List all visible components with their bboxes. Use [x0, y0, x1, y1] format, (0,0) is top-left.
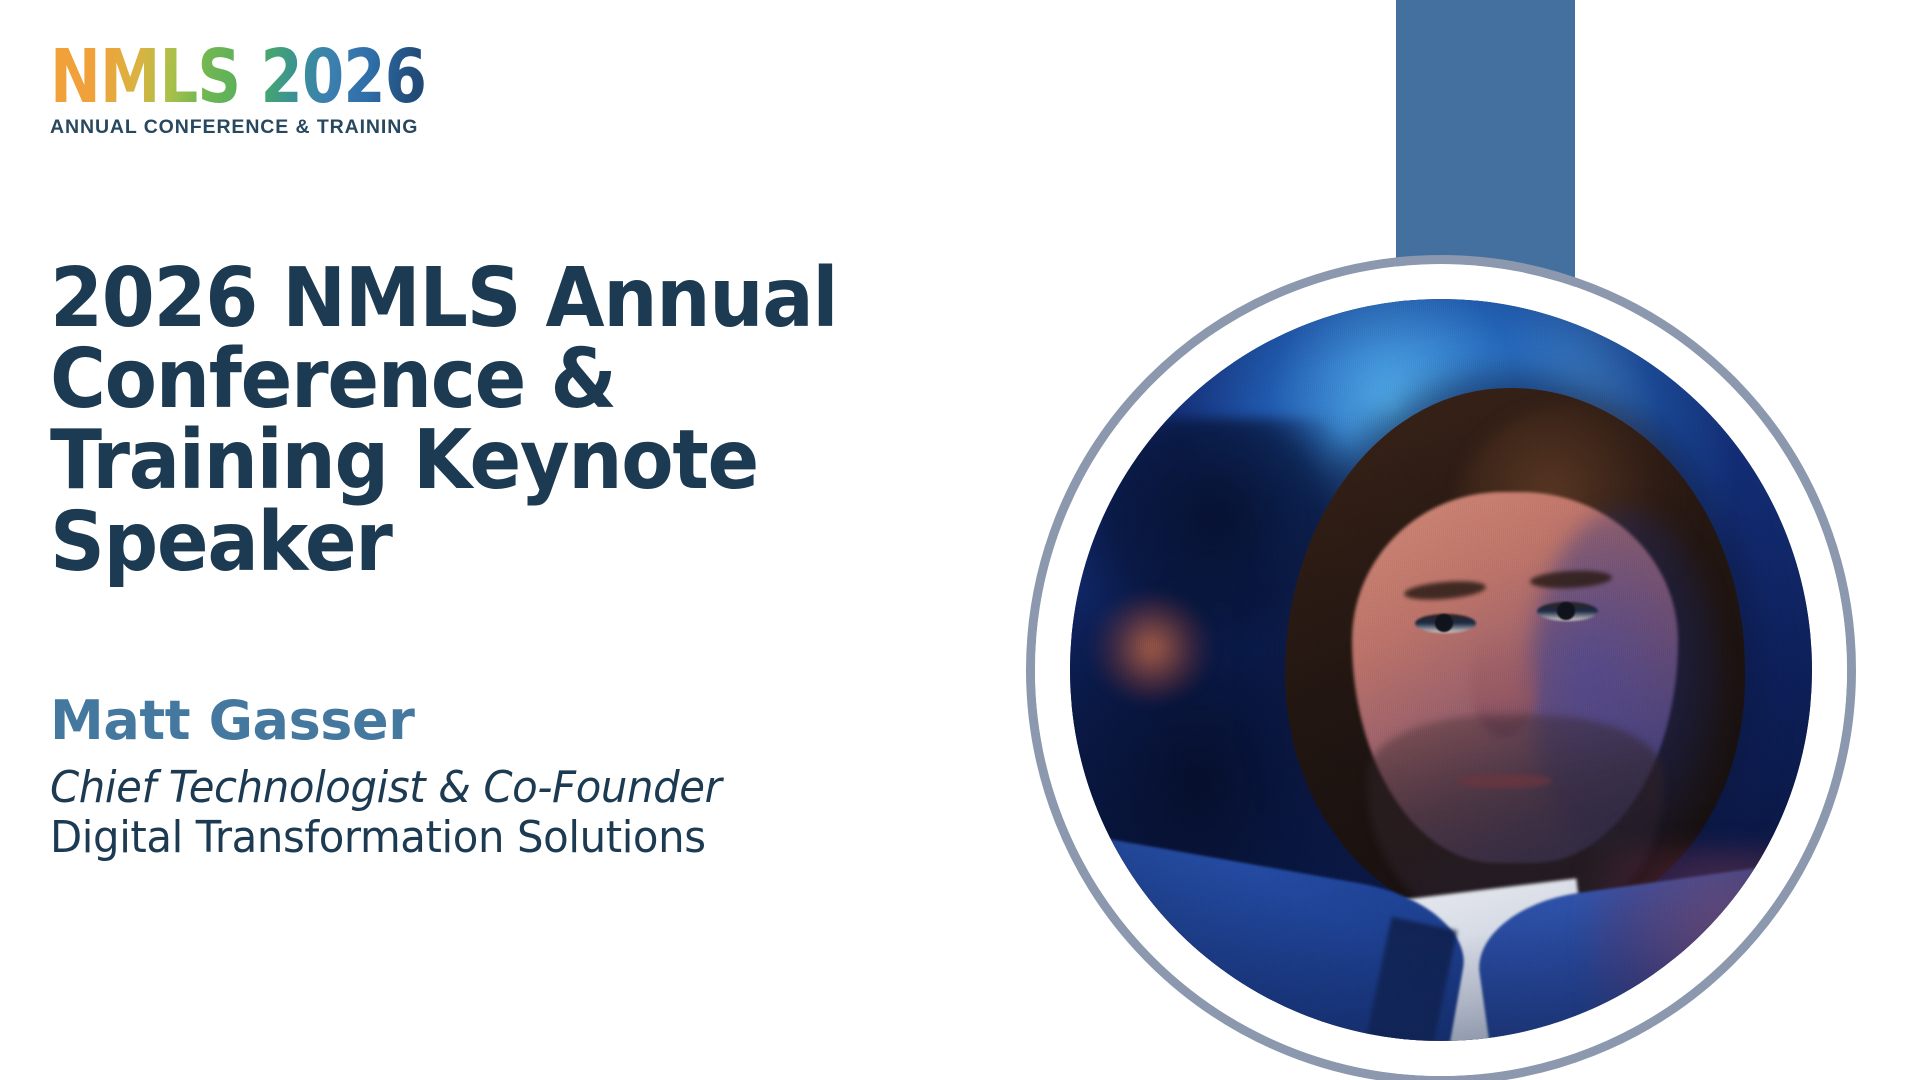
- avatar: [1070, 299, 1812, 1041]
- speaker-name: Matt Gasser: [50, 693, 1110, 750]
- speaker-portrait-medallion: [1026, 255, 1856, 1080]
- page-title-line-2: Conference &: [50, 339, 1036, 420]
- portrait-vignette: [1070, 299, 1812, 1041]
- slide-canvas: NMLS 2026 ANNUAL CONFERENCE & TRAINING 2…: [0, 0, 1920, 1080]
- page-title-line-4: Speaker: [50, 502, 1036, 583]
- nmls-logo: NMLS 2026 ANNUAL CONFERENCE & TRAINING: [50, 42, 509, 139]
- speaker-organization: Digital Transformation Solutions: [50, 813, 1057, 863]
- copy-column: 2026 NMLS Annual Conference & Training K…: [50, 258, 1110, 863]
- page-title-line-1: 2026 NMLS Annual: [50, 258, 1036, 339]
- speaker-role: Chief Technologist & Co-Founder: [50, 763, 1057, 813]
- page-title: 2026 NMLS Annual Conference & Training K…: [50, 258, 1036, 583]
- logo-wordmark: NMLS 2026: [50, 42, 426, 112]
- page-title-line-3: Training Keynote: [50, 420, 1036, 501]
